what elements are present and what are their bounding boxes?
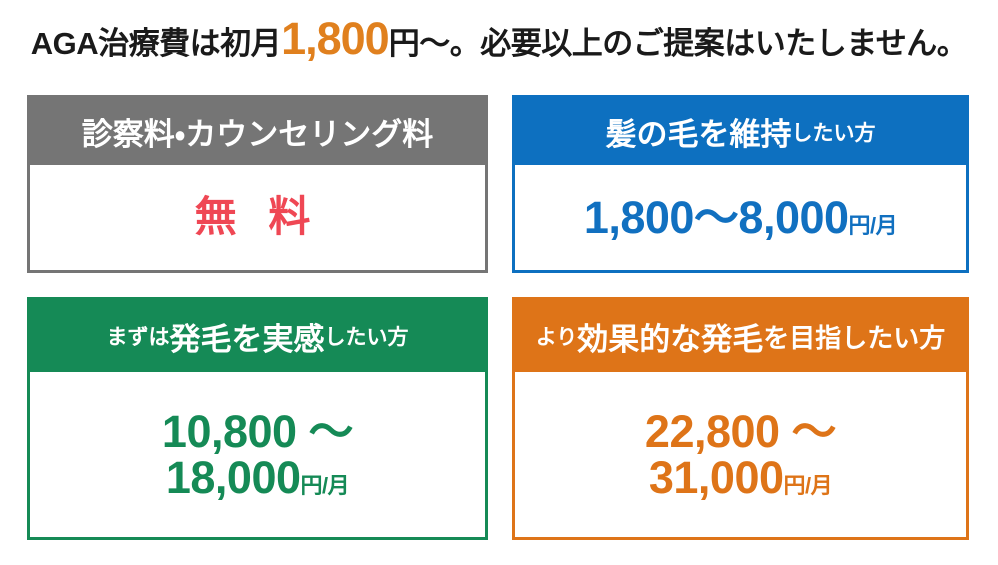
card-regrow-unit-2: 円/月 bbox=[301, 473, 350, 498]
card-maintain-price-row: 1,800～8,000円/月 bbox=[584, 195, 897, 241]
card-effective-amount-2: 31,000 bbox=[649, 452, 784, 503]
pricing-infographic: AGA治療費は初月1,800円～。必要以上のご提案はいたしません。 診察料・カウ… bbox=[0, 0, 998, 565]
card-maintain-header-suffix: したい方 bbox=[792, 117, 876, 147]
card-maintain-hair: 髪の毛を維持したい方 1,800～8,000円/月 bbox=[512, 95, 969, 273]
card-regrow-amount-1: 10,800 ～ bbox=[162, 406, 353, 457]
card-regrow-header-prefix: まずは bbox=[107, 321, 170, 351]
card-effective-unit-2: 円/月 bbox=[784, 473, 833, 498]
card-maintain-body: 1,800～8,000円/月 bbox=[515, 165, 966, 270]
card-effective-header-main: 効果的な発毛 bbox=[577, 314, 763, 359]
headline-part-1: AGA治療費は初月 bbox=[31, 26, 281, 61]
card-effective-amount-1: 22,800 ～ bbox=[645, 406, 836, 457]
card-effective-regrowth: より効果的な発毛を目指したい方 22,800 ～ 31,000円/月 bbox=[512, 297, 969, 540]
card-maintain-header: 髪の毛を維持したい方 bbox=[515, 98, 966, 165]
headline-part-2: 円～。 bbox=[389, 26, 481, 61]
card-effective-header-suffix: を目指したい方 bbox=[763, 318, 945, 355]
card-regrow-amount-2: 18,000 bbox=[166, 452, 301, 503]
card-examination-body: 無 料 bbox=[30, 165, 485, 270]
card-effective-header: より効果的な発毛を目指したい方 bbox=[515, 300, 966, 372]
card-examination-value: 無 料 bbox=[195, 196, 321, 239]
card-maintain-unit: 円/月 bbox=[849, 213, 898, 238]
card-regrow-price-row-1: 10,800 ～ bbox=[162, 409, 353, 455]
card-effective-price-row-1: 22,800 ～ bbox=[645, 409, 836, 455]
card-effective-header-prefix: より bbox=[536, 321, 578, 351]
card-regrow-body: 10,800 ～ 18,000円/月 bbox=[30, 372, 485, 537]
card-examination-fee: 診察料・カウンセリング料 無 料 bbox=[27, 95, 488, 273]
headline-amount: 1,800 bbox=[281, 13, 389, 64]
card-examination-header-main: 診察料・カウンセリング料 bbox=[82, 109, 434, 154]
card-feel-regrowth: まずは発毛を実感したい方 10,800 ～ 18,000円/月 bbox=[27, 297, 488, 540]
card-regrow-header: まずは発毛を実感したい方 bbox=[30, 300, 485, 372]
card-regrow-header-suffix: したい方 bbox=[325, 321, 409, 351]
card-maintain-header-main: 髪の毛を維持 bbox=[606, 109, 792, 154]
card-effective-body: 22,800 ～ 31,000円/月 bbox=[515, 372, 966, 537]
card-regrow-header-main: 発毛を実感 bbox=[170, 314, 325, 359]
card-maintain-amount: 1,800～8,000 bbox=[584, 192, 849, 243]
page-headline: AGA治療費は初月1,800円～。必要以上のご提案はいたしません。 bbox=[0, 16, 998, 61]
headline-part-3: 必要以上のご提案はいたしません。 bbox=[480, 26, 967, 61]
card-examination-header: 診察料・カウンセリング料 bbox=[30, 98, 485, 165]
card-regrow-price-row-2: 18,000円/月 bbox=[166, 455, 349, 501]
card-effective-price-row-2: 31,000円/月 bbox=[649, 455, 832, 501]
